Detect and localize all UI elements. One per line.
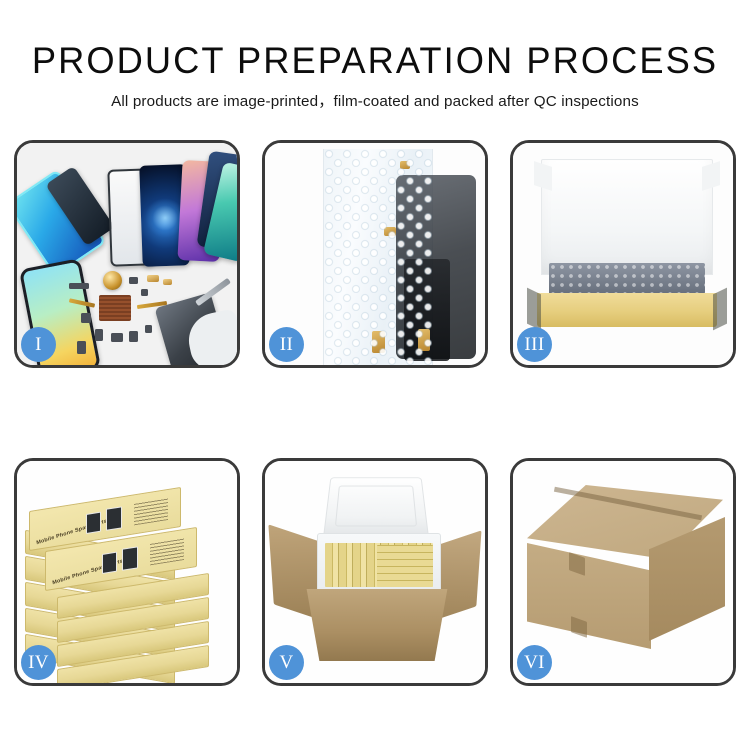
kraft-box-tray (537, 293, 717, 327)
page-title: PRODUCT PREPARATION PROCESS (8, 40, 743, 81)
component-chip (145, 325, 152, 333)
foam-padding (549, 263, 705, 297)
box-product-photo (86, 512, 101, 534)
kraft-boxes-inside (377, 545, 433, 587)
white-box-lid (541, 159, 713, 275)
logic-board-part (99, 295, 131, 321)
component-chip (129, 277, 138, 284)
box-spec-text (150, 538, 184, 565)
process-step-1: I (14, 140, 240, 368)
page-subtitle: All products are image-printed，film-coat… (0, 89, 750, 111)
process-step-4: Mobile Phone Spare Parts Mobile Phone Sp… (14, 458, 240, 686)
gold-connector (147, 275, 159, 282)
plastic-bag (323, 149, 433, 365)
step-badge-3: III (517, 327, 552, 362)
product-preparation-infographic: PRODUCT PREPARATION PROCESS All products… (0, 0, 750, 750)
component-chip (129, 331, 138, 342)
process-step-3: III (510, 140, 736, 368)
component-chip (81, 313, 91, 323)
step-badge-5: V (269, 645, 304, 680)
box-product-photo (106, 506, 122, 531)
step-badge-1: I (21, 327, 56, 362)
process-step-5: V (262, 458, 488, 686)
process-step-2: II (262, 140, 488, 368)
box-spec-text (134, 498, 168, 525)
component-chip (95, 329, 103, 341)
component-chip (69, 283, 89, 289)
component-chip (77, 341, 86, 354)
step-badge-2: II (269, 327, 304, 362)
box-product-photo (122, 546, 138, 571)
header: PRODUCT PREPARATION PROCESS All products… (0, 40, 750, 111)
step-badge-4: IV (21, 645, 56, 680)
gold-connector (163, 279, 172, 285)
bubble-wrap-texture (324, 149, 432, 365)
speaker-coil-part (103, 271, 122, 290)
process-step-6: VI (510, 458, 736, 686)
foam-cooler-lid (323, 477, 429, 537)
process-step-grid: I II (14, 140, 736, 686)
carton-front-face (527, 543, 651, 649)
component-chip (111, 333, 123, 342)
box-product-photo (102, 552, 117, 574)
outer-carton-body (297, 589, 457, 661)
step-badge-6: VI (517, 645, 552, 680)
component-chip (141, 289, 148, 296)
